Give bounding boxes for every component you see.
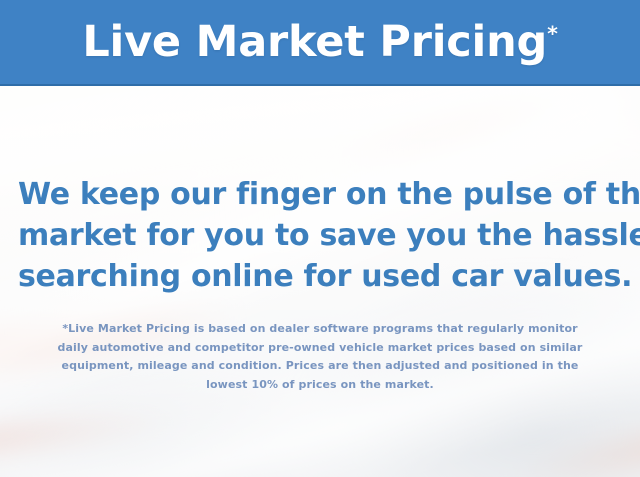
headline-line: We keep our finger on the pulse of the [18,174,622,215]
footnote-disclaimer: *Live Market Pricing is based on dealer … [0,320,640,394]
page-title: Live Market Pricing* [82,21,557,64]
live-market-pricing-promo-card: Live Market Pricing* We keep our finger … [0,0,640,477]
page-title-asterisk: * [547,21,558,45]
content-area: We keep our finger on the pulse of the m… [0,86,640,477]
footnote-line: lowest 10% of prices on the market. [22,376,618,395]
footnote-line: *Live Market Pricing is based on dealer … [22,320,618,339]
header-band: Live Market Pricing* [0,0,640,86]
headline-block: We keep our finger on the pulse of the m… [0,174,640,297]
headline-line: market for you to save you the hassle of [18,215,622,256]
page-title-text: Live Market Pricing [82,17,547,67]
headline-line: searching online for used car values. [18,256,622,297]
footnote-line: daily automotive and competitor pre-owne… [22,339,618,358]
footnote-line: equipment, mileage and condition. Prices… [22,357,618,376]
